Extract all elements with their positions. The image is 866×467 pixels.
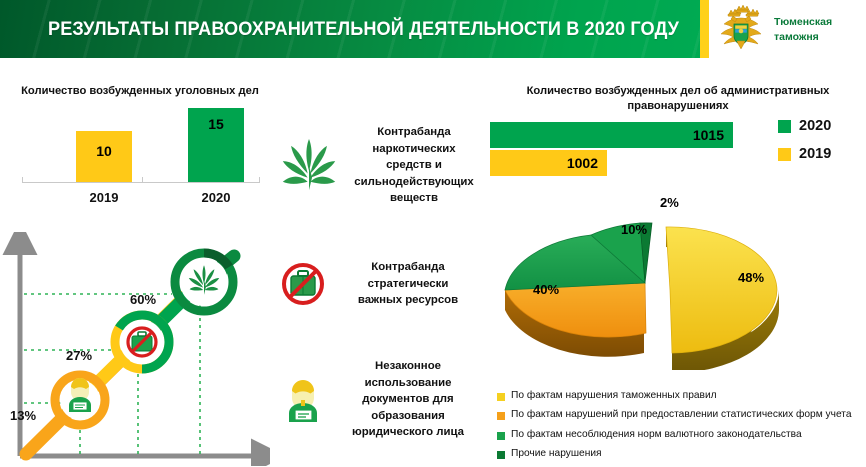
pie-label-2: 2% [660, 195, 679, 210]
infographic-page: РЕЗУЛЬТАТЫ ПРАВООХРАНИТЕЛЬНОЙ ДЕЯТЕЛЬНОС… [0, 0, 866, 466]
page-header: РЕЗУЛЬТАТЫ ПРАВООХРАНИТЕЛЬНОЙ ДЕЯТЕЛЬНОС… [0, 0, 866, 62]
growth-arrow-svg [2, 232, 270, 466]
criminal-cases-chart: Количество возбужденных уголовных дел 10… [14, 84, 266, 209]
hbar-2020-fill: 1015 [490, 122, 733, 148]
axis-tick [259, 177, 260, 183]
header-yellow-divider [700, 0, 709, 58]
administrative-cases-chart: Количество возбужденных дел об администр… [490, 84, 866, 202]
russian-customs-eagle-emblem-icon [715, 4, 767, 56]
hbar-2020: 1015 [490, 122, 733, 148]
xlabel-2019: 2019 [69, 190, 139, 205]
violations-pie-svg [480, 190, 866, 370]
pie-legend-swatch-other [497, 451, 505, 459]
violations-pie-chart: 40% 10% 2% 48% [480, 190, 866, 370]
category-item-strategic-resources: Контрабанда стратегически важных ресурсо… [272, 253, 472, 315]
administrative-cases-legend: 2020 2019 [778, 118, 864, 174]
pie-legend-swatch-statistical-forms [497, 412, 505, 420]
category-label-contraband-drugs: Контрабанда наркотических средств и силь… [350, 124, 478, 207]
legend-swatch-2020 [778, 120, 791, 133]
pie-legend-item-customs-rules: По фактам нарушения таможенных правил [497, 390, 866, 403]
pie-label-48: 48% [738, 270, 764, 285]
organization-name-line2: таможня [774, 30, 832, 45]
pie-legend-label-statistical-forms: По фактам нарушений при предоставлении с… [511, 409, 852, 422]
violations-pie-legend: По фактам нарушения таможенных правил По… [497, 390, 866, 467]
administrative-cases-title: Количество возбужденных дел об администр… [490, 84, 866, 114]
pie-label-40: 40% [533, 282, 559, 297]
pie-legend-swatch-customs-rules [497, 393, 505, 401]
category-label-illegal-documents: Незаконное использование документов для … [344, 358, 472, 441]
person-document-icon [69, 378, 91, 412]
bar-2019: 10 [76, 131, 132, 183]
organization-logo: Тюменская таможня [715, 2, 866, 58]
pie-legend-item-statistical-forms: По фактам нарушений при предоставлении с… [497, 409, 866, 422]
bar-2019-value: 10 [76, 143, 132, 159]
pie-label-10: 10% [621, 222, 647, 237]
cannabis-leaf-icon [278, 134, 340, 196]
category-item-contraband-drugs: Контрабанда наркотических средств и силь… [278, 124, 478, 207]
pie-legend-swatch-currency-law [497, 432, 505, 440]
pie-legend-item-currency-law: По фактам несоблюдения норм валютного за… [497, 429, 866, 442]
pie-legend-label-other: Прочие нарушения [511, 448, 602, 461]
person-document-icon [272, 368, 334, 430]
legend-label-2020: 2020 [799, 118, 831, 134]
bar-2020: 15 [188, 108, 244, 183]
criminal-cases-xlabels: 2019 2020 [14, 187, 266, 211]
criminal-cases-axis [22, 182, 260, 183]
organization-name-line1: Тюменская [774, 15, 832, 30]
legend-label-2019: 2019 [799, 146, 831, 162]
pie-legend-label-currency-law: По фактам несоблюдения норм валютного за… [511, 429, 802, 442]
pie-legend-item-other: Прочие нарушения [497, 448, 866, 461]
axis-tick [142, 177, 143, 183]
category-label-strategic-resources: Контрабанда стратегически важных ресурсо… [344, 259, 472, 309]
growth-label-27: 27% [66, 348, 92, 363]
hbar-2019-fill: 1002 [490, 150, 607, 176]
criminal-cases-title: Количество возбужденных уголовных дел [14, 84, 266, 99]
criminal-cases-plot: 10 15 [14, 105, 266, 183]
hbar-2020-value: 1015 [693, 127, 724, 143]
hbar-2019-value: 1002 [567, 155, 598, 171]
legend-item-2019: 2019 [778, 146, 864, 162]
axis-tick [22, 177, 23, 183]
category-item-illegal-documents: Незаконное использование документов для … [272, 358, 472, 441]
hbar-2019: 1002 [490, 150, 607, 176]
legend-swatch-2019 [778, 148, 791, 161]
growth-label-60: 60% [130, 292, 156, 307]
no-suitcase-icon [272, 253, 334, 315]
growth-label-13: 13% [10, 408, 36, 423]
legend-item-2020: 2020 [778, 118, 864, 134]
growth-arrow-chart: 13% 27% 60% [2, 232, 270, 466]
xlabel-2020: 2020 [181, 190, 251, 205]
pie-legend-label-customs-rules: По фактам нарушения таможенных правил [511, 390, 717, 403]
organization-name: Тюменская таможня [774, 15, 832, 45]
page-title: РЕЗУЛЬТАТЫ ПРАВООХРАНИТЕЛЬНОЙ ДЕЯТЕЛЬНОС… [48, 0, 679, 58]
bar-2020-value: 15 [188, 116, 244, 132]
